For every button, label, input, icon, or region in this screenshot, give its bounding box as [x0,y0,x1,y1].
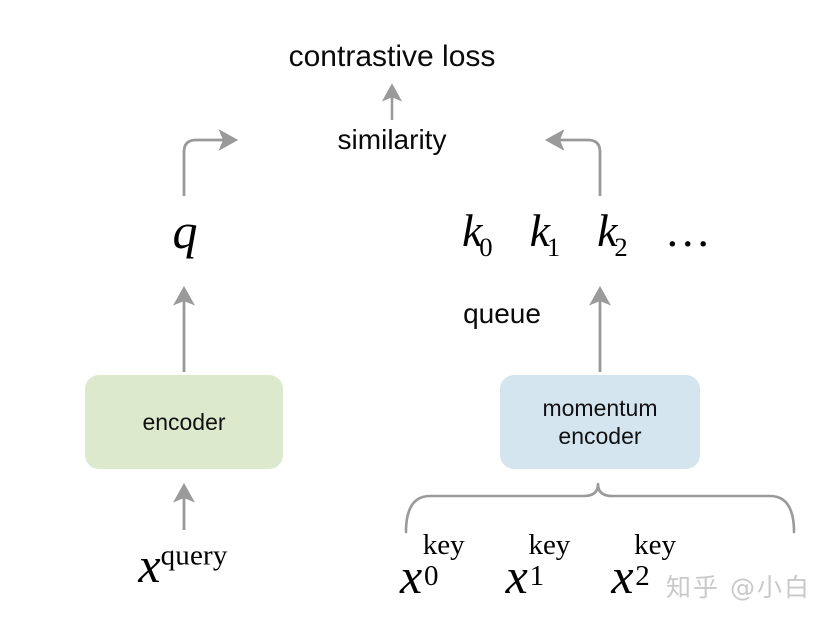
similarity-label: similarity [338,124,447,156]
key-representation-2: k2 [597,205,628,256]
input-key-symbols: xkey0 xkey1 xkey2 [400,540,676,601]
input-query-symbol: xquery [138,540,227,590]
contrastive-loss-label: contrastive loss [289,40,496,74]
momentum-encoder-box-label: momentum encoder [542,394,657,450]
encoder-box-label: encoder [142,408,225,436]
momentum-encoder-box[interactable]: momentum encoder [500,375,700,469]
encoder-box[interactable]: encoder [85,375,283,469]
underbrace-icon [406,484,794,532]
key-representations: k0 k1 k2 … [462,208,711,261]
arrow-elbow-right-icon [184,140,232,196]
queue-label: queue [463,298,541,330]
input-key-symbol-0: xkey0 [400,548,465,604]
watermark: 知乎 @小白 [666,568,811,604]
key-representation-1: k1 [530,205,561,256]
key-representation-0: k0 [462,205,493,256]
query-representation: q [173,206,198,256]
input-key-symbol-1: xkey1 [506,548,571,604]
key-representations-ellipsis: … [665,205,711,256]
diagram-canvas: contrastive loss similarity q k0 k1 k2 …… [0,0,826,634]
connector-layer [0,0,826,634]
arrow-elbow-left-icon [551,140,600,196]
